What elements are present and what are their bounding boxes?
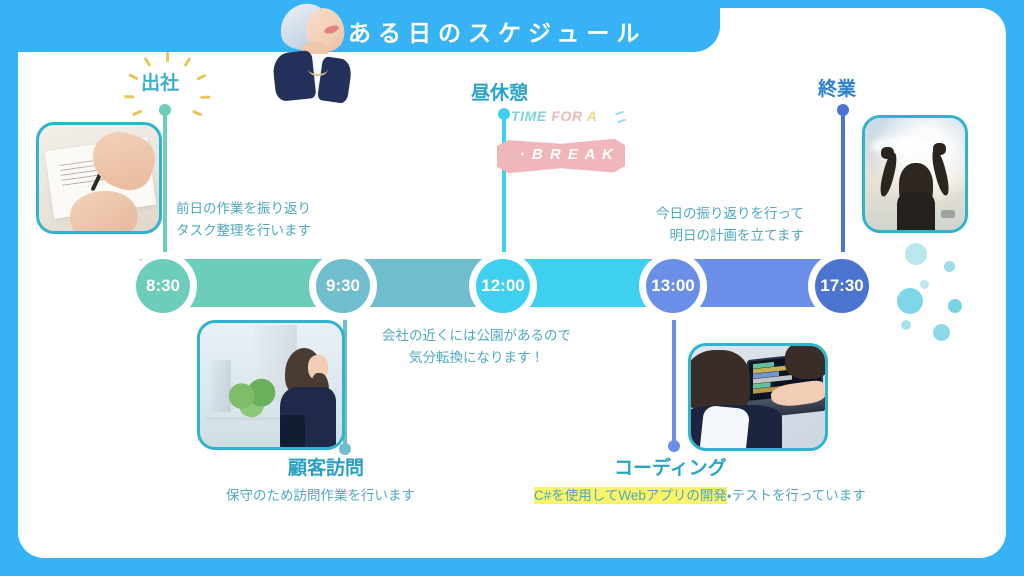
node-time-label: 13:00 — [651, 276, 694, 296]
photo-arrive — [36, 122, 162, 234]
event-label-client-visit: 顧客訪問 — [288, 453, 364, 480]
businesswoman-cutout-image — [262, 2, 346, 98]
break-illustration: TIME FOR A · B R E A K · — [497, 104, 627, 184]
page-title: ある日のスケジュール — [348, 14, 646, 48]
desc-line: 今日の振り返りを行って — [656, 203, 804, 225]
stem-arrive — [163, 110, 167, 270]
desc-line: タスク整理を行います — [176, 220, 311, 242]
photo-end-of-day — [862, 115, 968, 233]
timeline-node-13-00[interactable]: 13:00 — [646, 259, 700, 313]
desc-rest: ・テストを行っています — [727, 488, 866, 503]
event-label-coding: コーディング — [614, 453, 727, 480]
photo-client-visit — [197, 320, 345, 450]
schedule-infographic: ある日のスケジュール TIME FOR A · B R — [0, 0, 1024, 576]
desc-line: 明日の計画を立てます — [656, 225, 804, 247]
desc-line: 会社の近くには公園があるので — [382, 325, 571, 347]
timeline-node-9-30[interactable]: 9:30 — [316, 259, 370, 313]
timeline-node-12-00[interactable]: 12:00 — [476, 259, 530, 313]
desc-line: 気分転換になります！ — [382, 347, 571, 369]
bubble-decoration — [901, 320, 911, 330]
event-description-client-visit: 保守のため訪問作業を行います — [226, 485, 415, 507]
node-time-label: 8:30 — [146, 276, 180, 296]
bubble-decoration — [933, 324, 950, 341]
stem-coding — [672, 294, 676, 446]
event-label-arrive: 出社 — [141, 68, 179, 95]
timeline-node-8-30[interactable]: 8:30 — [136, 259, 190, 313]
event-label-lunch: 昼休憩 — [471, 78, 528, 105]
event-label-end-of-day: 終業 — [818, 74, 856, 101]
event-description-coding: C#を使用してWebアプリの開発・テストを行っています — [534, 485, 866, 507]
stem-end-of-day — [841, 110, 845, 270]
node-time-label: 9:30 — [326, 276, 360, 296]
photo-coding — [688, 343, 828, 451]
event-description-lunch: 会社の近くには公園があるので 気分転換になります！ — [382, 325, 571, 370]
desc-highlight: C#を使用してWebアプリの開発 — [534, 487, 727, 504]
timeline-node-17-30[interactable]: 17:30 — [815, 259, 869, 313]
break-illustration-ribbon-text: · B R E A K · — [517, 146, 617, 180]
break-illustration-top-text: TIME FOR A — [511, 108, 597, 124]
node-time-label: 12:00 — [481, 276, 524, 296]
event-description-arrive: 前日の作業を振り返り タスク整理を行います — [176, 198, 311, 243]
event-description-end-of-day: 今日の振り返りを行って 明日の計画を立てます — [656, 203, 804, 248]
desc-line: 前日の作業を振り返り — [176, 198, 311, 220]
node-time-label: 17:30 — [820, 276, 863, 296]
